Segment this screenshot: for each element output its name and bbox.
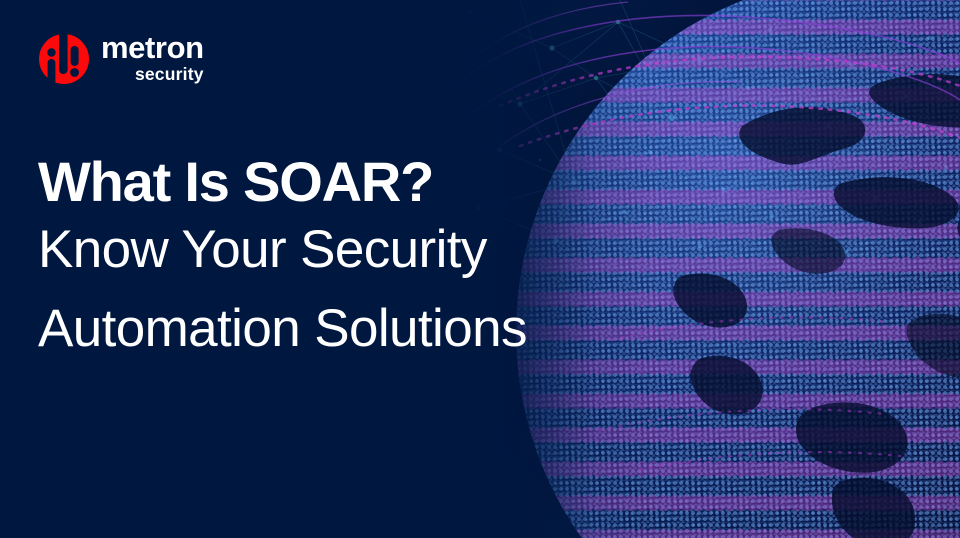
soar-title-banner: metron security What Is SOAR? Know Your … — [0, 0, 960, 538]
page-title: What Is SOAR? — [38, 152, 658, 211]
headline-block: What Is SOAR? Know Your Security Automat… — [38, 152, 658, 368]
brand-logo[interactable]: metron security — [38, 30, 204, 86]
subtitle-line-2: Automation Solutions — [38, 290, 658, 368]
brand-tagline: security — [135, 66, 204, 84]
subtitle-line-1: Know Your Security — [38, 211, 658, 289]
brand-wordmark: metron security — [101, 32, 204, 84]
brand-name: metron — [101, 32, 204, 63]
metron-circle-logo-icon — [38, 30, 90, 86]
